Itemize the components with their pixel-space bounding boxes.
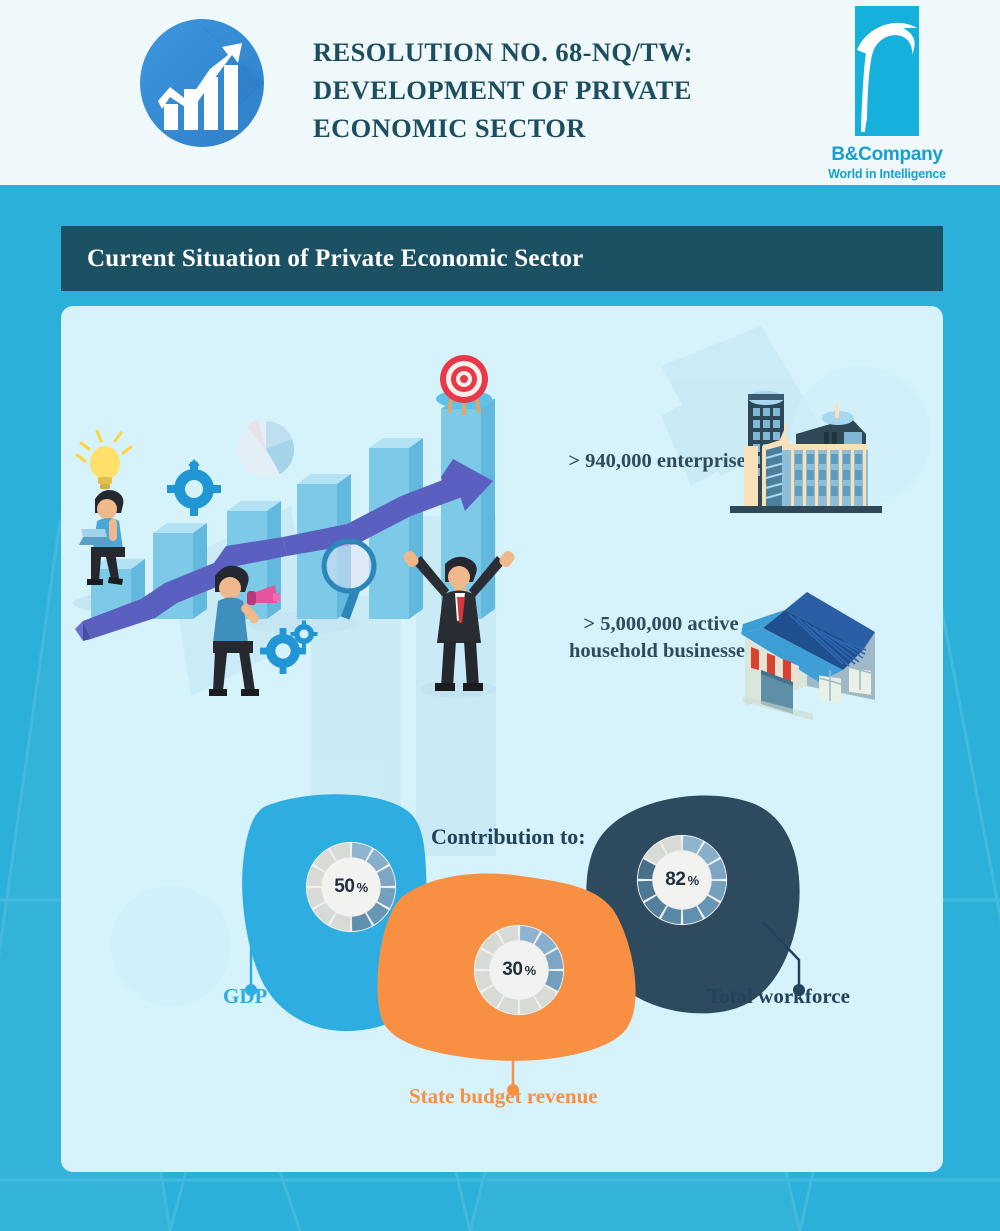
donut-gdp: 50% <box>303 839 399 935</box>
label-budget: State budget revenue <box>409 1084 598 1109</box>
growth-chart-circle-icon <box>136 17 268 149</box>
section-title: Current Situation of Private Economic Se… <box>61 245 583 273</box>
label-workforce: Total workforce <box>707 984 850 1009</box>
donut-budget: 30% <box>471 922 567 1018</box>
brand-block: B&Company World in Intelligence <box>792 4 982 182</box>
brand-name: B&Company <box>792 144 982 166</box>
donut-gdp-value: 50% <box>303 839 399 935</box>
pie-chart-icon <box>238 419 294 477</box>
page-header: RESOLUTION NO. 68-NQ/TW: DEVELOPMENT OF … <box>0 0 1000 185</box>
brand-tagline: World in Intelligence <box>792 166 982 182</box>
shop-house-icon <box>723 574 903 720</box>
b-and-company-logo-mark <box>837 4 937 144</box>
donut-budget-value: 30% <box>471 922 567 1018</box>
city-buildings-icon <box>716 376 896 521</box>
label-gdp: GDP <box>223 984 267 1009</box>
lightbulb-icon <box>77 431 131 489</box>
content-panel: > 940,000 enterprises <box>61 306 943 1172</box>
page-title: RESOLUTION NO. 68-NQ/TW: DEVELOPMENT OF … <box>313 33 793 147</box>
donut-workforce: 82% <box>634 832 730 928</box>
business-growth-illustration <box>61 341 541 711</box>
donut-workforce-value: 82% <box>634 832 730 928</box>
section-header-bar: Current Situation of Private Economic Se… <box>61 226 943 291</box>
